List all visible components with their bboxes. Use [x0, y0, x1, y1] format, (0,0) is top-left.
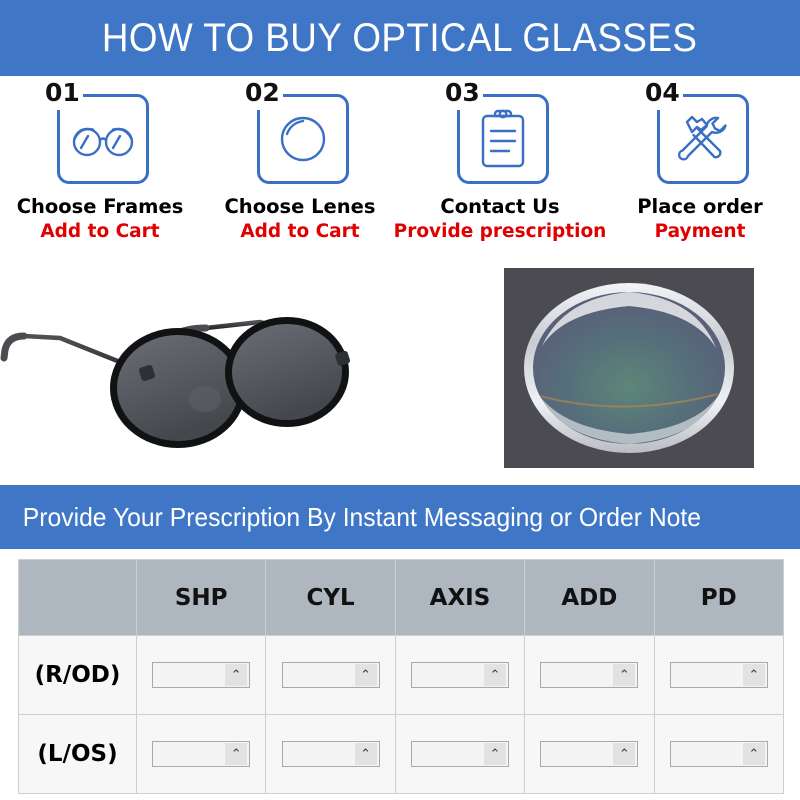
prescription-banner: Provide Your Prescription By Instant Mes… — [0, 485, 800, 549]
chevron-up-icon[interactable]: ⌃ — [484, 743, 506, 765]
page-header-banner: HOW TO BUY OPTICAL GLASSES — [0, 0, 800, 76]
chevron-up-icon[interactable]: ⌃ — [355, 743, 377, 765]
step-3[interactable]: 03 Contact Us Provide prescription — [400, 82, 600, 257]
chevron-up-icon[interactable]: ⌃ — [225, 743, 247, 765]
select-left-add[interactable]: ⌃ — [540, 741, 638, 767]
steps-row: 01 Choose Frames Add to Cart — [0, 82, 800, 257]
table-row: (R/OD) ⌃ ⌃ ⌃ — [19, 636, 784, 715]
step-2-number: 02 — [243, 80, 282, 106]
cell-right-pd: ⌃ — [654, 636, 783, 715]
cell-right-shp: ⌃ — [137, 636, 266, 715]
step-3-number: 03 — [443, 80, 482, 106]
step-1[interactable]: 01 Choose Frames Add to Cart — [0, 82, 200, 257]
step-4-label: Place order — [637, 195, 763, 218]
optical-lens-photo — [504, 268, 754, 468]
chevron-up-icon[interactable]: ⌃ — [613, 743, 635, 765]
prescription-table: SHP CYL AXIS ADD PD (R/OD) ⌃ ⌃ — [18, 559, 784, 794]
select-right-add[interactable]: ⌃ — [540, 662, 638, 688]
cell-left-add: ⌃ — [525, 715, 654, 794]
prescription-table-container: SHP CYL AXIS ADD PD (R/OD) ⌃ ⌃ — [18, 559, 784, 791]
prescription-banner-text: Provide Your Prescription By Instant Mes… — [0, 502, 701, 533]
step-1-label: Choose Frames — [17, 195, 184, 218]
cell-right-axis: ⌃ — [395, 636, 524, 715]
page-title: HOW TO BUY OPTICAL GLASSES — [102, 16, 697, 61]
cell-left-cyl: ⌃ — [266, 715, 395, 794]
cell-left-axis: ⌃ — [395, 715, 524, 794]
column-header-add: ADD — [525, 560, 654, 636]
select-left-axis[interactable]: ⌃ — [411, 741, 509, 767]
step-4-sublabel: Payment — [655, 221, 746, 242]
step-4-icon-frame: 04 — [641, 82, 759, 186]
cell-left-shp: ⌃ — [137, 715, 266, 794]
table-header-row: SHP CYL AXIS ADD PD — [19, 560, 784, 636]
step-3-label: Contact Us — [440, 195, 559, 218]
row-label-left-eye: (L/OS) — [19, 715, 137, 794]
column-header-axis: AXIS — [395, 560, 524, 636]
row-label-right-eye: (R/OD) — [19, 636, 137, 715]
column-header-shp: SHP — [137, 560, 266, 636]
cell-right-add: ⌃ — [525, 636, 654, 715]
select-left-shp[interactable]: ⌃ — [152, 741, 250, 767]
select-left-pd[interactable]: ⌃ — [670, 741, 768, 767]
select-left-cyl[interactable]: ⌃ — [282, 741, 380, 767]
column-header-blank — [19, 560, 137, 636]
chevron-up-icon[interactable]: ⌃ — [225, 664, 247, 686]
step-3-icon-frame: 03 — [441, 82, 559, 186]
select-right-cyl[interactable]: ⌃ — [282, 662, 380, 688]
step-4-number: 04 — [643, 80, 682, 106]
round-black-sunglasses-photo — [0, 266, 370, 466]
select-right-pd[interactable]: ⌃ — [670, 662, 768, 688]
select-right-axis[interactable]: ⌃ — [411, 662, 509, 688]
cell-left-pd: ⌃ — [654, 715, 783, 794]
column-header-pd: PD — [654, 560, 783, 636]
step-2[interactable]: 02 Choose Lenes Add to Cart — [200, 82, 400, 257]
chevron-up-icon[interactable]: ⌃ — [743, 743, 765, 765]
step-1-number: 01 — [43, 80, 82, 106]
step-2-sublabel: Add to Cart — [240, 221, 359, 242]
table-row: (L/OS) ⌃ ⌃ ⌃ — [19, 715, 784, 794]
chevron-up-icon[interactable]: ⌃ — [355, 664, 377, 686]
cell-right-cyl: ⌃ — [266, 636, 395, 715]
step-2-icon-frame: 02 — [241, 82, 359, 186]
column-header-cyl: CYL — [266, 560, 395, 636]
chevron-up-icon[interactable]: ⌃ — [743, 664, 765, 686]
chevron-up-icon[interactable]: ⌃ — [484, 664, 506, 686]
step-2-label: Choose Lenes — [225, 195, 376, 218]
step-1-icon-frame: 01 — [41, 82, 159, 186]
select-right-shp[interactable]: ⌃ — [152, 662, 250, 688]
step-4[interactable]: 04 Place order Payment — [600, 82, 800, 257]
product-photo-strip — [0, 258, 800, 480]
chevron-up-icon[interactable]: ⌃ — [613, 664, 635, 686]
step-3-sublabel: Provide prescription — [394, 221, 607, 242]
step-1-sublabel: Add to Cart — [40, 221, 159, 242]
